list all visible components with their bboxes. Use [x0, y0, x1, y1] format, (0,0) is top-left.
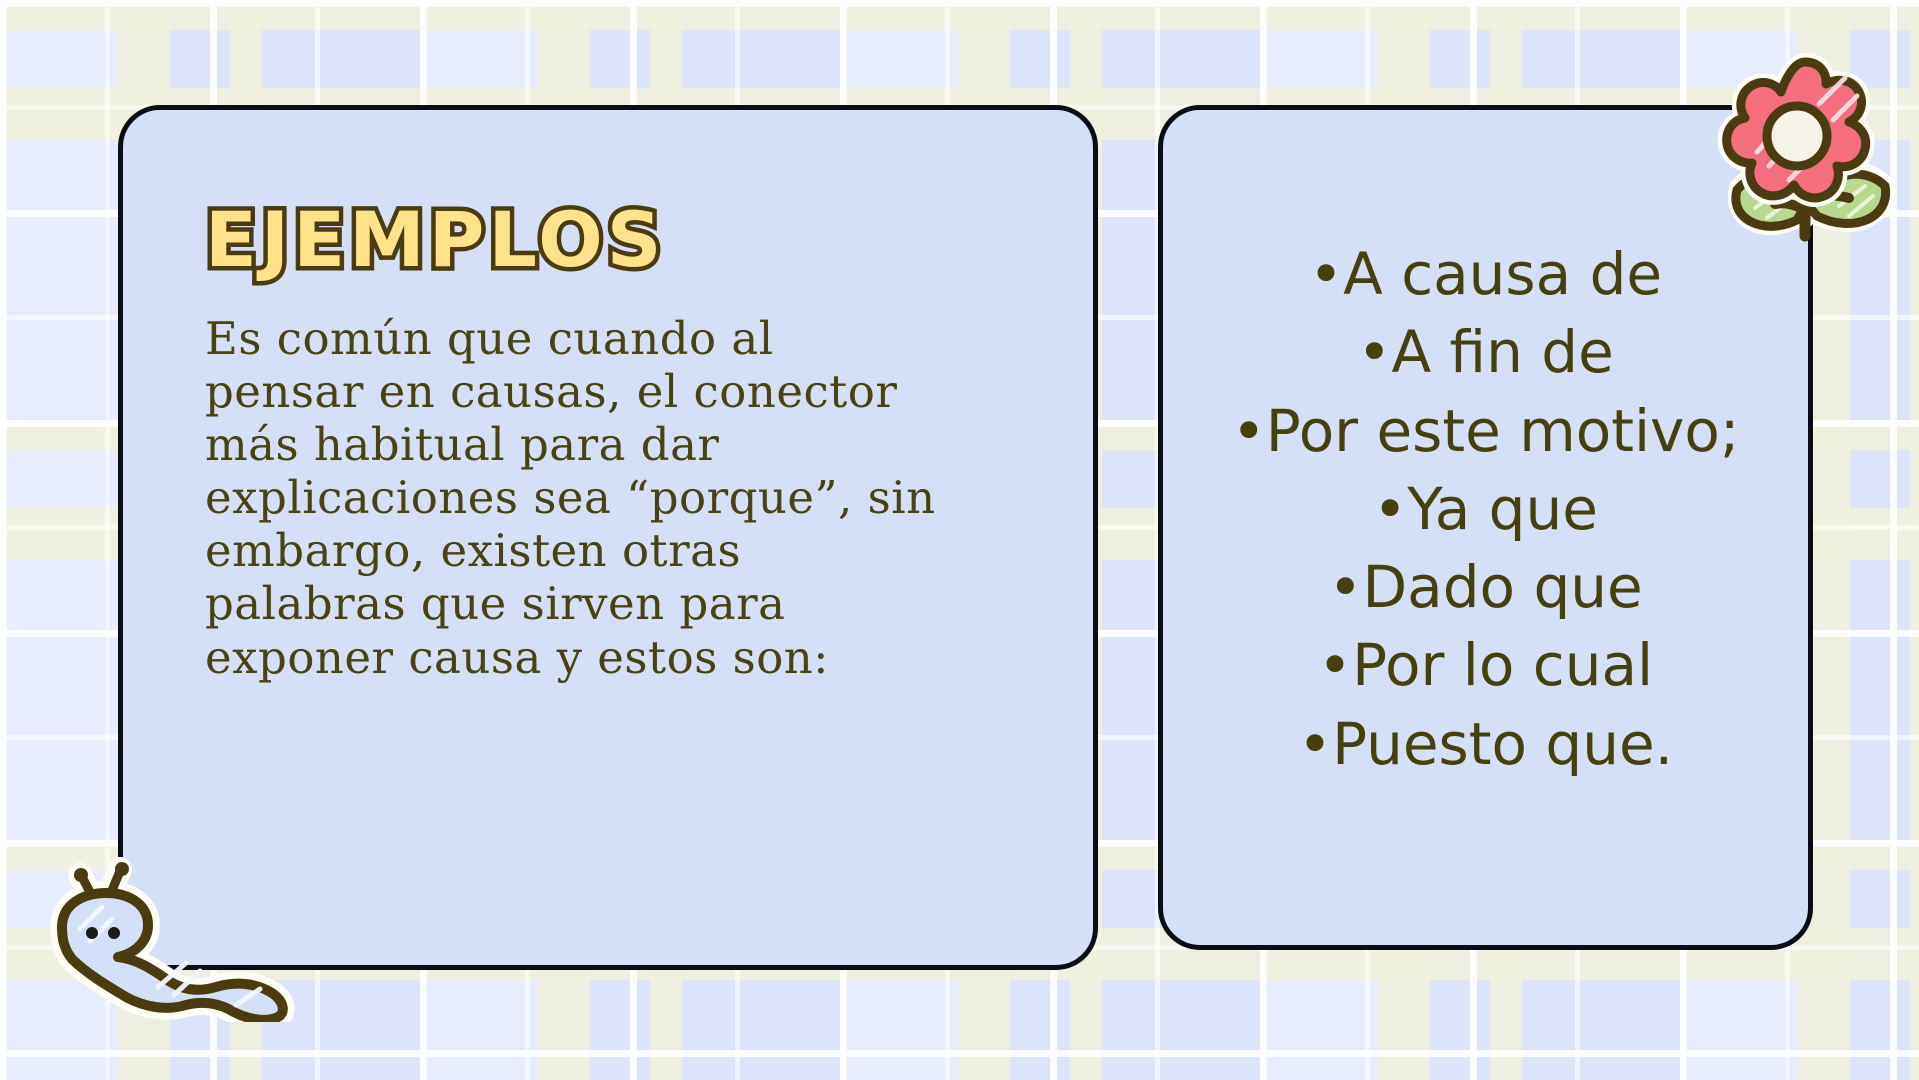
list-item-label: A causa de: [1343, 240, 1662, 308]
paragraph-line: Es común que cuando al: [205, 312, 1023, 365]
paragraph-line: exponer causa y estos son:: [205, 631, 1023, 684]
paragraph-line: más habitual para dar: [205, 418, 1023, 471]
description-paragraph: Es común que cuando al pensar en causas,…: [205, 312, 1023, 684]
slide-canvas: EJEMPLOS Es común que cuando al pensar e…: [0, 0, 1919, 1080]
connectors-list-card: •A causa de •A fin de •Por este motivo; …: [1158, 105, 1813, 950]
connectors-list: •A causa de •A fin de •Por este motivo; …: [1181, 235, 1790, 783]
bullet-icon: •: [1328, 553, 1362, 621]
paragraph-line: palabras que sirven para: [205, 577, 1023, 630]
list-item-label: Dado que: [1363, 553, 1643, 621]
list-item-label: Por lo cual: [1352, 631, 1653, 699]
list-item-label: A fin de: [1391, 318, 1613, 386]
list-item: •Por este motivo;: [1181, 392, 1790, 470]
list-item: •Dado que: [1181, 548, 1790, 626]
list-item: •Puesto que.: [1181, 705, 1790, 783]
bullet-icon: •: [1318, 631, 1352, 699]
bullet-icon: •: [1357, 318, 1391, 386]
bullet-icon: •: [1298, 710, 1332, 778]
list-item-label: Puesto que.: [1332, 710, 1673, 778]
paragraph-line: pensar en causas, el conector: [205, 365, 1023, 418]
list-item: •Ya que: [1181, 470, 1790, 548]
list-item-label: Por este motivo;: [1266, 397, 1740, 465]
list-item: •A fin de: [1181, 313, 1790, 391]
paragraph-line: explicaciones sea “porque”, sin: [205, 471, 1023, 524]
bullet-icon: •: [1309, 240, 1343, 308]
list-item-label: Ya que: [1407, 475, 1598, 543]
paragraph-line: embargo, existen otras: [205, 524, 1023, 577]
bullet-icon: •: [1373, 475, 1407, 543]
page-title: EJEMPLOS: [205, 202, 1023, 278]
list-item: •Por lo cual: [1181, 626, 1790, 704]
examples-card-content: EJEMPLOS Es común que cuando al pensar e…: [205, 202, 1023, 684]
bullet-icon: •: [1232, 397, 1266, 465]
examples-card: EJEMPLOS Es común que cuando al pensar e…: [118, 105, 1098, 970]
list-item: •A causa de: [1181, 235, 1790, 313]
